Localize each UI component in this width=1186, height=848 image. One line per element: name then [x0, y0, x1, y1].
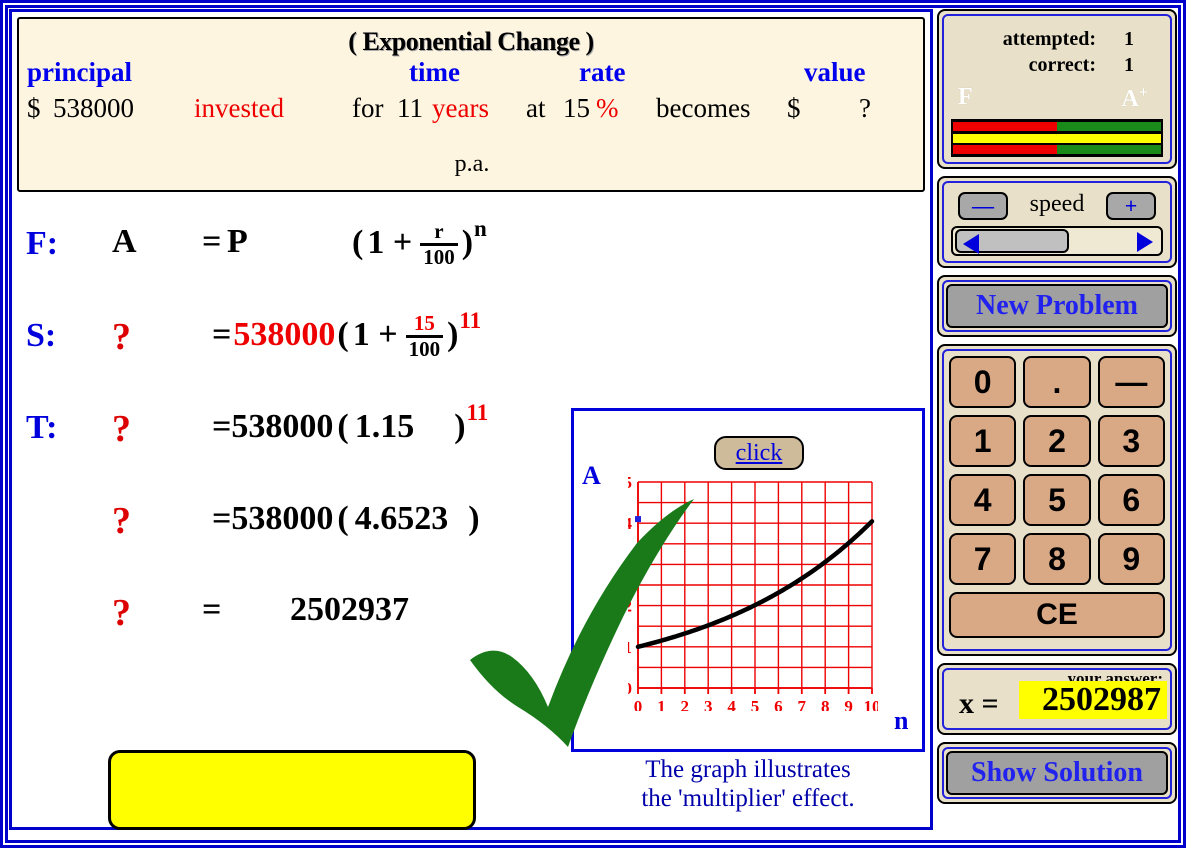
key-3[interactable]: 3: [1098, 415, 1165, 467]
score-panel-inner: attempted: 1 correct: 1 F A+: [942, 14, 1172, 164]
principal-value: 538000: [53, 93, 134, 124]
close-paren-f: ): [462, 224, 473, 262]
fraction-f: r 100: [420, 220, 458, 267]
slider-right-arrow-icon[interactable]: [1137, 232, 1153, 252]
key-9[interactable]: 9: [1098, 533, 1165, 585]
open-paren-t: (: [337, 408, 348, 446]
show-solution-panel: Show Solution: [937, 742, 1177, 804]
time-value: 11: [397, 93, 423, 124]
close-paren-4: ): [468, 500, 479, 538]
row-expression-t: = 538000 ( 1.15 ) 11: [212, 397, 488, 457]
show-solution-inner: Show Solution: [942, 747, 1172, 799]
label-principal: principal: [27, 57, 132, 88]
at-word: at: [526, 93, 546, 124]
correct-row: correct: 1: [944, 54, 1170, 80]
score-panel: attempted: 1 correct: 1 F A+: [937, 9, 1177, 169]
slider-left-arrow-icon[interactable]: [963, 234, 979, 254]
row-lhs-s: ?: [112, 315, 131, 359]
result-value: 2502937: [290, 591, 409, 629]
attempted-value: 1: [1124, 28, 1134, 51]
row-lhs-5: ?: [112, 591, 131, 635]
svg-text:5: 5: [628, 476, 632, 492]
svg-text:0: 0: [628, 679, 632, 698]
svg-text:3: 3: [704, 697, 713, 711]
key-minus[interactable]: —: [1098, 356, 1165, 408]
multiplier-t: 1.15: [355, 408, 415, 446]
label-rate: rate: [579, 57, 625, 88]
key-8[interactable]: 8: [1023, 533, 1090, 585]
speed-increase-button[interactable]: +: [1106, 192, 1156, 220]
svg-text:8: 8: [821, 697, 830, 711]
exponent-t: 11: [467, 400, 489, 426]
numeric-keypad: 0.—123456789CE: [949, 356, 1165, 638]
app-root: ( Exponential Change ) principal time ra…: [0, 0, 1186, 848]
row-lhs-4: ?: [112, 499, 131, 543]
invested-word: invested: [194, 93, 284, 124]
svg-text:2: 2: [628, 597, 632, 616]
answer-entry-box[interactable]: [108, 750, 476, 830]
years-word: years: [432, 93, 489, 124]
open-paren-f: (: [352, 224, 363, 262]
progress-bar-bottom: [953, 145, 1161, 154]
row-tag-f: F:: [26, 225, 58, 263]
speed-slider-track[interactable]: [951, 226, 1163, 256]
key-0[interactable]: 0: [949, 356, 1016, 408]
svg-text:2: 2: [681, 697, 690, 711]
svg-text:1: 1: [657, 697, 666, 711]
y-axis-label: A: [582, 461, 601, 491]
your-answer-inner: your answer: x = 2502987: [942, 668, 1172, 730]
key-6[interactable]: 6: [1098, 474, 1165, 526]
row-expression-f: ( 1 + r 100 ) n: [352, 213, 487, 273]
new-problem-panel: New Problem: [937, 275, 1177, 337]
grade-low-label: F: [958, 84, 973, 111]
attempted-row: attempted: 1: [944, 28, 1170, 54]
new-problem-button[interactable]: New Problem: [946, 284, 1168, 328]
row-equals-f: =: [202, 223, 221, 261]
header-column-labels: principal time rate value: [19, 57, 923, 93]
progress-bar-top: [953, 122, 1161, 131]
becomes-word: becomes: [656, 93, 750, 124]
close-paren-t: ): [454, 408, 465, 446]
caption-line-1: The graph illustrates: [571, 756, 925, 785]
svg-text:4: 4: [727, 697, 736, 711]
svg-text:9: 9: [844, 697, 853, 711]
open-paren-4: (: [337, 500, 348, 538]
new-problem-inner: New Problem: [942, 280, 1172, 332]
problem-statement: $ 538000 invested for 11 years at 15 % b…: [19, 93, 923, 133]
fraction-denominator-s: 100: [406, 335, 444, 360]
click-button[interactable]: click: [714, 436, 804, 470]
x-axis-label: n: [894, 706, 908, 736]
row-principal-4: 538000: [231, 500, 333, 538]
one-plus-f: 1 +: [367, 224, 412, 262]
key-4[interactable]: 4: [949, 474, 1016, 526]
svg-text:4: 4: [628, 514, 633, 533]
keypad-panel: 0.—123456789CE: [937, 344, 1177, 656]
graph-panel: click A n 012345678910012345: [571, 408, 925, 752]
per-annum-note: p.a.: [19, 151, 923, 178]
progress-seg-pass-top: [1057, 122, 1161, 131]
row-equals-s: =: [212, 316, 231, 354]
exponent-s: 11: [459, 308, 481, 334]
progress-seg-mid: [953, 134, 1161, 143]
fraction-s: 15 100: [406, 312, 444, 359]
working-row-formula: F: A = P ( 1 + r 100 ) n: [12, 197, 936, 289]
fraction-numerator-s: 15: [411, 312, 438, 334]
open-paren-s: (: [337, 316, 348, 354]
progress-seg-fail-top: [953, 122, 1057, 131]
row-principal-s: 538000: [233, 316, 335, 354]
row-equals-t: =: [212, 408, 231, 446]
exponential-chart: 012345678910012345: [628, 476, 878, 711]
sidebar: attempted: 1 correct: 1 F A+: [937, 9, 1177, 830]
row-principal-f: P: [227, 223, 248, 261]
key-clear-entry[interactable]: CE: [949, 592, 1165, 638]
show-solution-button[interactable]: Show Solution: [946, 751, 1168, 795]
row-equals-5: =: [202, 591, 221, 629]
speed-panel-inner: — speed +: [942, 181, 1172, 263]
key-2[interactable]: 2: [1023, 415, 1090, 467]
answer-prefix: x =: [959, 687, 999, 721]
row-lhs-f: A: [112, 223, 137, 261]
svg-text:1: 1: [628, 638, 632, 657]
attempted-label: attempted:: [1003, 28, 1096, 51]
close-paren-s: ): [447, 316, 458, 354]
row-principal-t: 538000: [231, 408, 333, 446]
key-decimal[interactable]: .: [1023, 356, 1090, 408]
row-tag-s: S:: [26, 317, 56, 355]
for-word: for: [352, 93, 383, 124]
row-lhs-t: ?: [112, 407, 131, 451]
fraction-denominator-f: 100: [420, 243, 458, 268]
row-equals-4: =: [212, 500, 231, 538]
main-work-area: ( Exponential Change ) principal time ra…: [9, 9, 933, 830]
svg-text:7: 7: [798, 697, 807, 711]
key-1[interactable]: 1: [949, 415, 1016, 467]
label-time: time: [409, 57, 460, 88]
speed-controls-row: — speed +: [944, 188, 1170, 228]
key-7[interactable]: 7: [949, 533, 1016, 585]
question-header-panel: ( Exponential Change ) principal time ra…: [17, 17, 925, 192]
grade-high-label: A+: [1122, 84, 1148, 113]
correct-label: correct:: [1029, 54, 1096, 77]
grade-scale-row: F A+: [944, 84, 1170, 112]
label-value: value: [804, 57, 866, 88]
speed-panel: — speed +: [937, 176, 1177, 268]
speed-slider-thumb[interactable]: [955, 229, 1069, 253]
svg-text:6: 6: [774, 697, 783, 711]
grade-progress-bar: [951, 119, 1163, 157]
keypad-inner: 0.—123456789CE: [942, 349, 1172, 651]
svg-text:5: 5: [751, 697, 760, 711]
answer-value: 2502987: [1019, 681, 1167, 719]
svg-text:0: 0: [634, 697, 643, 711]
your-answer-panel: your answer: x = 2502987: [937, 663, 1177, 735]
caption-line-2: the 'multiplier' effect.: [571, 785, 925, 814]
currency-symbol-2: $: [787, 93, 801, 124]
graph-caption: The graph illustrates the 'multiplier' e…: [571, 756, 925, 814]
page-title: ( Exponential Change ): [19, 27, 923, 57]
row-expression-s: = 538000 ( 1 + 15 100 ) 11: [212, 305, 481, 365]
exponent-f: n: [474, 216, 487, 242]
correct-value: 1: [1124, 54, 1134, 77]
one-plus-s: 1 +: [353, 316, 398, 354]
svg-text:10: 10: [864, 697, 879, 711]
percent-symbol: %: [596, 93, 619, 124]
progress-seg-fail-bottom: [953, 145, 1057, 154]
working-row-substitute: S: ? = 538000 ( 1 + 15 100 ) 11: [12, 289, 936, 381]
key-5[interactable]: 5: [1023, 474, 1090, 526]
progress-seg-pass-bottom: [1057, 145, 1161, 154]
svg-text:3: 3: [628, 555, 632, 574]
multiplier-4: 4.6523: [355, 500, 449, 538]
rate-value: 15: [563, 93, 590, 124]
currency-symbol: $: [27, 93, 41, 124]
row-tag-t: T:: [26, 409, 57, 447]
fraction-numerator-f: r: [431, 220, 446, 242]
unknown-value: ?: [859, 93, 871, 124]
row-expression-4: = 538000 ( 4.6523 ): [212, 489, 480, 549]
progress-bar-mid: [953, 134, 1161, 143]
